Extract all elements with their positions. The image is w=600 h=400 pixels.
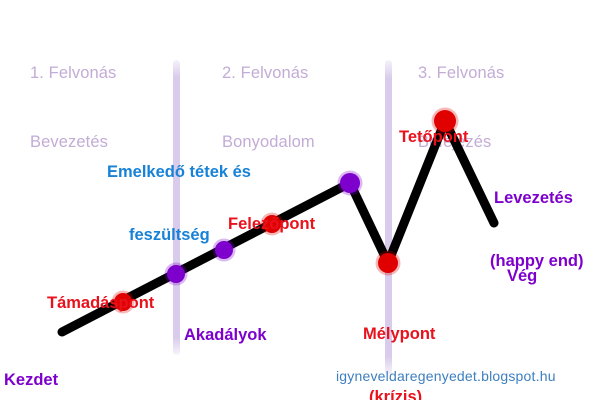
annotation-akadalyok-line-1: Akadályok [184,325,267,346]
annotation-melypont-line-1: Mélypont [363,324,435,345]
annotation-tetopont: Tetőpont [399,85,468,190]
watermark-blog-url: igyneveldaregenyedet.blogspot.hu [336,368,556,384]
story-structure-diagram: 1. Felvonás Bevezetés 2. Felvonás Bonyod… [0,0,600,400]
annotation-veg: Vég [507,224,537,329]
annotation-felezopont-line-1: Felezőpont [228,214,315,235]
annotation-felezopont: Felezőpont [228,172,315,277]
annotation-levezetes-line-1: Levezetés [490,188,584,209]
arc-marker-4 [340,173,360,193]
annotation-akadalyok: Akadályok [184,283,267,388]
annotation-veg-line-1: Vég [507,266,537,287]
annotation-tamadaspont-line-1: Támadáspont [47,293,154,314]
annotation-melypont-line-2: (krízis) [363,387,435,400]
arc-marker-5 [378,253,398,273]
annotation-kezdet-line-1: Kezdet [4,370,58,391]
annotation-tetopont-line-1: Tetőpont [399,127,468,148]
